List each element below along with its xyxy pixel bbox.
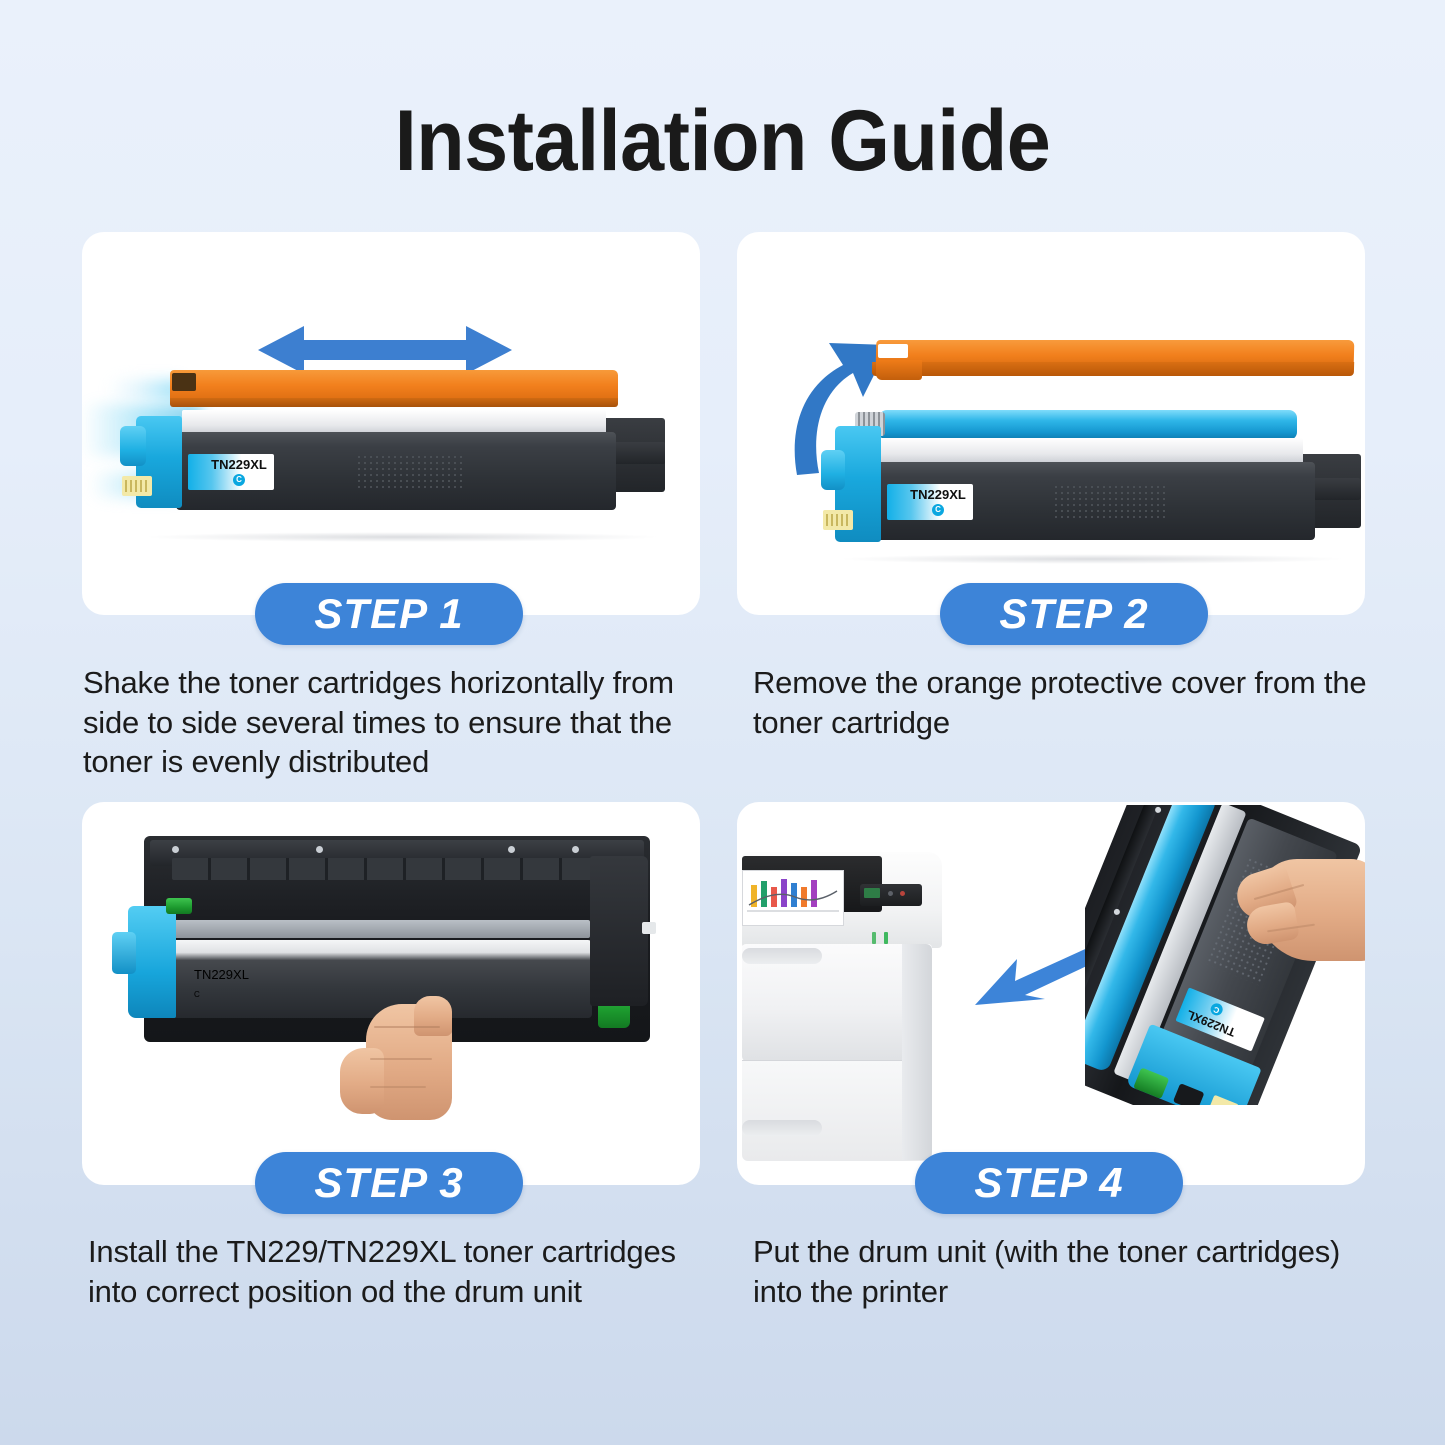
printed-test-page (742, 870, 844, 926)
installation-guide-page: Installation Guide TN (0, 0, 1445, 1445)
cartridge-color-badge: C (233, 474, 245, 486)
panel-screen (864, 888, 880, 898)
printer-front-handle[interactable] (742, 948, 822, 964)
detached-orange-cover (862, 340, 1354, 382)
drum-screw (316, 846, 323, 853)
cover-end-clip (878, 344, 908, 358)
cartridge-color-badge: C (932, 504, 944, 516)
cartridge-shadow (142, 532, 662, 542)
index-finger (414, 996, 452, 1036)
drum-unit-with-toner: TN229XL C (110, 836, 670, 1086)
drum-screw (508, 846, 515, 853)
step-badge-2: STEP 2 (940, 583, 1208, 645)
cartridge-chip-contacts (125, 480, 149, 492)
cartridge-cyan-handle (120, 426, 146, 466)
step-badge-4: STEP 4 (915, 1152, 1183, 1214)
step-caption-4: Put the drum unit (with the toner cartri… (753, 1232, 1373, 1311)
cartridge-label: TN229XL C (178, 966, 266, 1004)
cartridge-chip-contacts (826, 514, 850, 526)
step-badge-1: STEP 1 (255, 583, 523, 645)
cover-under-face (872, 362, 1354, 376)
hand (1231, 835, 1365, 961)
step-badge-3: STEP 3 (255, 1152, 523, 1214)
step-caption-1: Shake the toner cartridges horizontally … (83, 663, 733, 782)
printer-side-panel (902, 944, 932, 1160)
cartridge-label: TN229XL C (188, 454, 274, 490)
cartridge-label: TN229XL C (887, 484, 973, 520)
cartridge-label-text: TN229XL (910, 488, 966, 501)
drum-roller-shadow (170, 920, 590, 938)
cartridge-vent (1053, 484, 1165, 522)
exposed-drum-roller (879, 410, 1297, 440)
tilted-drum-unit: TN229XL C (1085, 805, 1365, 1105)
step-card-3: TN229XL C (82, 802, 700, 1185)
status-led (872, 932, 876, 944)
toner-cartridge: TN229XL C (120, 370, 665, 530)
cover-notch (172, 373, 196, 391)
cartridge-top-strip (879, 438, 1303, 464)
drum-tab (642, 922, 656, 934)
step-card-4: TN229XL C (737, 802, 1365, 1185)
cartridge-shadow (837, 554, 1347, 564)
drum-grooves (172, 858, 592, 880)
page-title: Installation Guide (58, 98, 1387, 184)
cartridge-color-badge: C (194, 990, 200, 999)
panel-button[interactable] (888, 891, 893, 896)
drum-screw (172, 846, 179, 853)
panel-button-stop[interactable] (900, 891, 905, 896)
cover-end-tab (876, 360, 922, 380)
drum-cyan-handle (112, 932, 136, 974)
cartridge-label-text: TN229XL (194, 967, 249, 982)
toner-cartridge: TN229XL C (821, 410, 1361, 570)
test-page-chart-icon (743, 871, 843, 925)
cover-shadow (170, 398, 618, 407)
printer (742, 852, 947, 1162)
step-caption-2: Remove the orange protective cover from … (753, 663, 1373, 742)
tray-handle[interactable] (742, 1120, 822, 1136)
knuckle-crease (370, 1086, 426, 1088)
step-caption-3: Install the TN229/TN229XL toner cartridg… (88, 1232, 708, 1311)
cartridge-label-text: TN229XL (211, 458, 267, 471)
status-led (884, 932, 888, 944)
cartridge-vent (356, 454, 466, 492)
knuckle-crease (374, 1026, 440, 1028)
cartridge-cyan-handle (821, 450, 845, 490)
green-release-lever-left (166, 898, 192, 914)
drum-right-endcap (590, 856, 648, 1006)
hand (340, 996, 480, 1120)
step-card-1: TN229XL C (82, 232, 700, 615)
knuckle-crease (370, 1058, 432, 1060)
step-card-2: TN229XL C (737, 232, 1365, 615)
drum-screw (572, 846, 579, 853)
